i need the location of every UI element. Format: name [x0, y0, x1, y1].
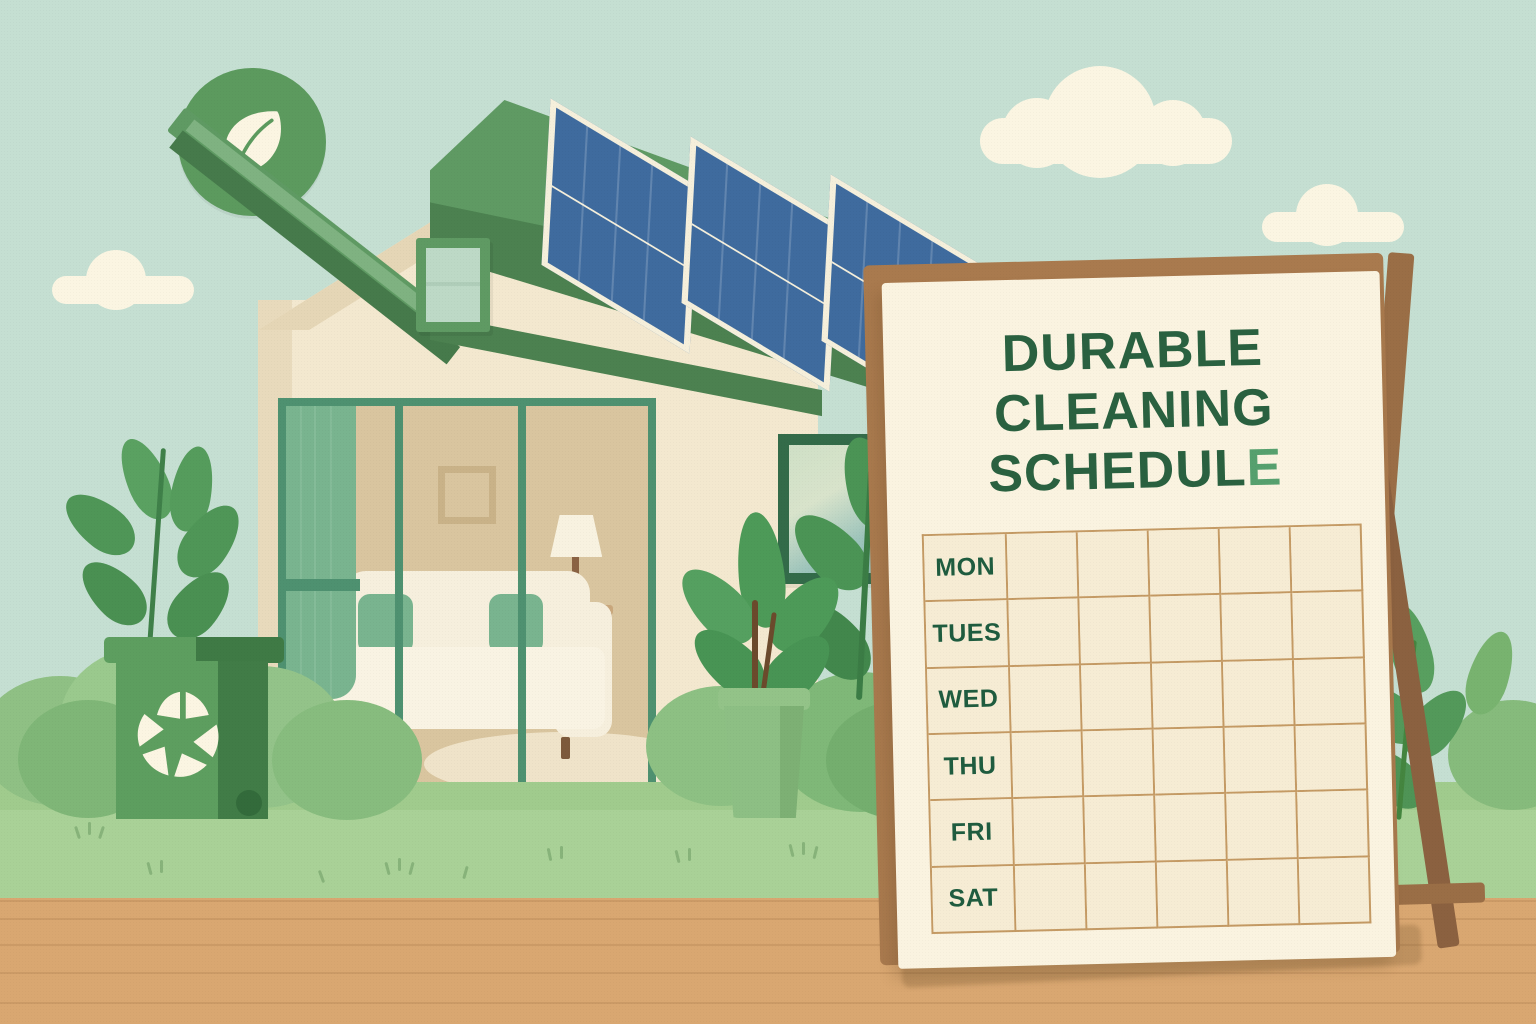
schedule-cell[interactable]: [1155, 794, 1228, 862]
schedule-cell[interactable]: [1012, 731, 1085, 799]
sign-title: DURABLE CLEANING SCHEDULE: [883, 315, 1385, 507]
schedule-day-label: TUES: [925, 600, 1010, 668]
sign-title-line-3-main: SCHEDUL: [988, 439, 1248, 503]
schedule-cell[interactable]: [1015, 864, 1088, 932]
schedule-day-label: SAT: [932, 866, 1017, 934]
interior-sofa-leg: [561, 737, 570, 759]
schedule-cell[interactable]: [1297, 791, 1370, 859]
schedule-cell[interactable]: [1083, 730, 1156, 798]
schedule-cell[interactable]: [1228, 859, 1301, 927]
schedule-cell[interactable]: [1081, 663, 1154, 731]
schedule-cell[interactable]: [1294, 658, 1367, 726]
schedule-cell[interactable]: [1154, 728, 1227, 796]
schedule-cell[interactable]: [1291, 525, 1364, 593]
schedule-cell[interactable]: [1009, 599, 1082, 667]
sign-board: DURABLE CLEANING SCHEDULE MON: [882, 271, 1397, 969]
schedule-row[interactable]: MON: [924, 525, 1363, 602]
interior-curtain-tieback: [286, 579, 360, 591]
schedule-cell[interactable]: [1157, 860, 1230, 928]
schedule-row[interactable]: WED: [927, 658, 1366, 735]
schedule-cell[interactable]: [1292, 592, 1365, 660]
attic-window: [416, 238, 490, 332]
schedule-cell[interactable]: [1152, 662, 1225, 730]
interior-pillow: [358, 594, 412, 654]
cleaning-schedule-sign[interactable]: DURABLE CLEANING SCHEDULE MON: [829, 222, 1483, 1009]
schedule-cell[interactable]: [1149, 529, 1222, 597]
schedule-row[interactable]: THU: [929, 724, 1368, 801]
schedule-cell[interactable]: [1078, 531, 1151, 599]
schedule-cell[interactable]: [1225, 726, 1298, 794]
door-mullion: [518, 406, 526, 782]
recycle-icon: [132, 686, 228, 790]
sign-title-accent-letter: E: [1246, 438, 1283, 497]
sign-title-line-3: SCHEDULE: [886, 435, 1385, 507]
schedule-row[interactable]: SAT: [932, 857, 1371, 934]
schedule-cell[interactable]: [1085, 796, 1158, 864]
schedule-cell[interactable]: [1296, 724, 1369, 792]
schedule-cell[interactable]: [1223, 660, 1296, 728]
schedule-day-label: MON: [924, 534, 1009, 602]
schedule-day-label: WED: [927, 667, 1012, 735]
schedule-day-label: FRI: [930, 799, 1015, 867]
bin-wheel: [236, 790, 262, 816]
schedule-cell[interactable]: [1010, 665, 1083, 733]
schedule-cell[interactable]: [1222, 593, 1295, 661]
schedule-cell[interactable]: [1014, 798, 1087, 866]
schedule-grid[interactable]: MON TUES: [922, 523, 1372, 934]
interior-picture-frame: [438, 466, 496, 524]
illustration-scene: DURABLE CLEANING SCHEDULE MON: [0, 0, 1536, 1024]
sign-wood-frame: DURABLE CLEANING SCHEDULE MON: [863, 253, 1400, 965]
schedule-cell[interactable]: [1220, 527, 1293, 595]
schedule-cell[interactable]: [1226, 792, 1299, 860]
schedule-row[interactable]: FRI: [930, 791, 1369, 868]
bin-lid-shadow: [196, 637, 284, 663]
schedule-cell[interactable]: [1086, 862, 1159, 930]
schedule-day-label: THU: [929, 733, 1014, 801]
schedule-cell[interactable]: [1007, 532, 1080, 600]
schedule-row[interactable]: TUES: [925, 592, 1364, 669]
interior-pillow: [489, 594, 543, 654]
schedule-cell[interactable]: [1151, 595, 1224, 663]
interior-curtain: [286, 406, 356, 699]
schedule-cell[interactable]: [1299, 857, 1372, 925]
schedule-cell[interactable]: [1080, 597, 1153, 665]
